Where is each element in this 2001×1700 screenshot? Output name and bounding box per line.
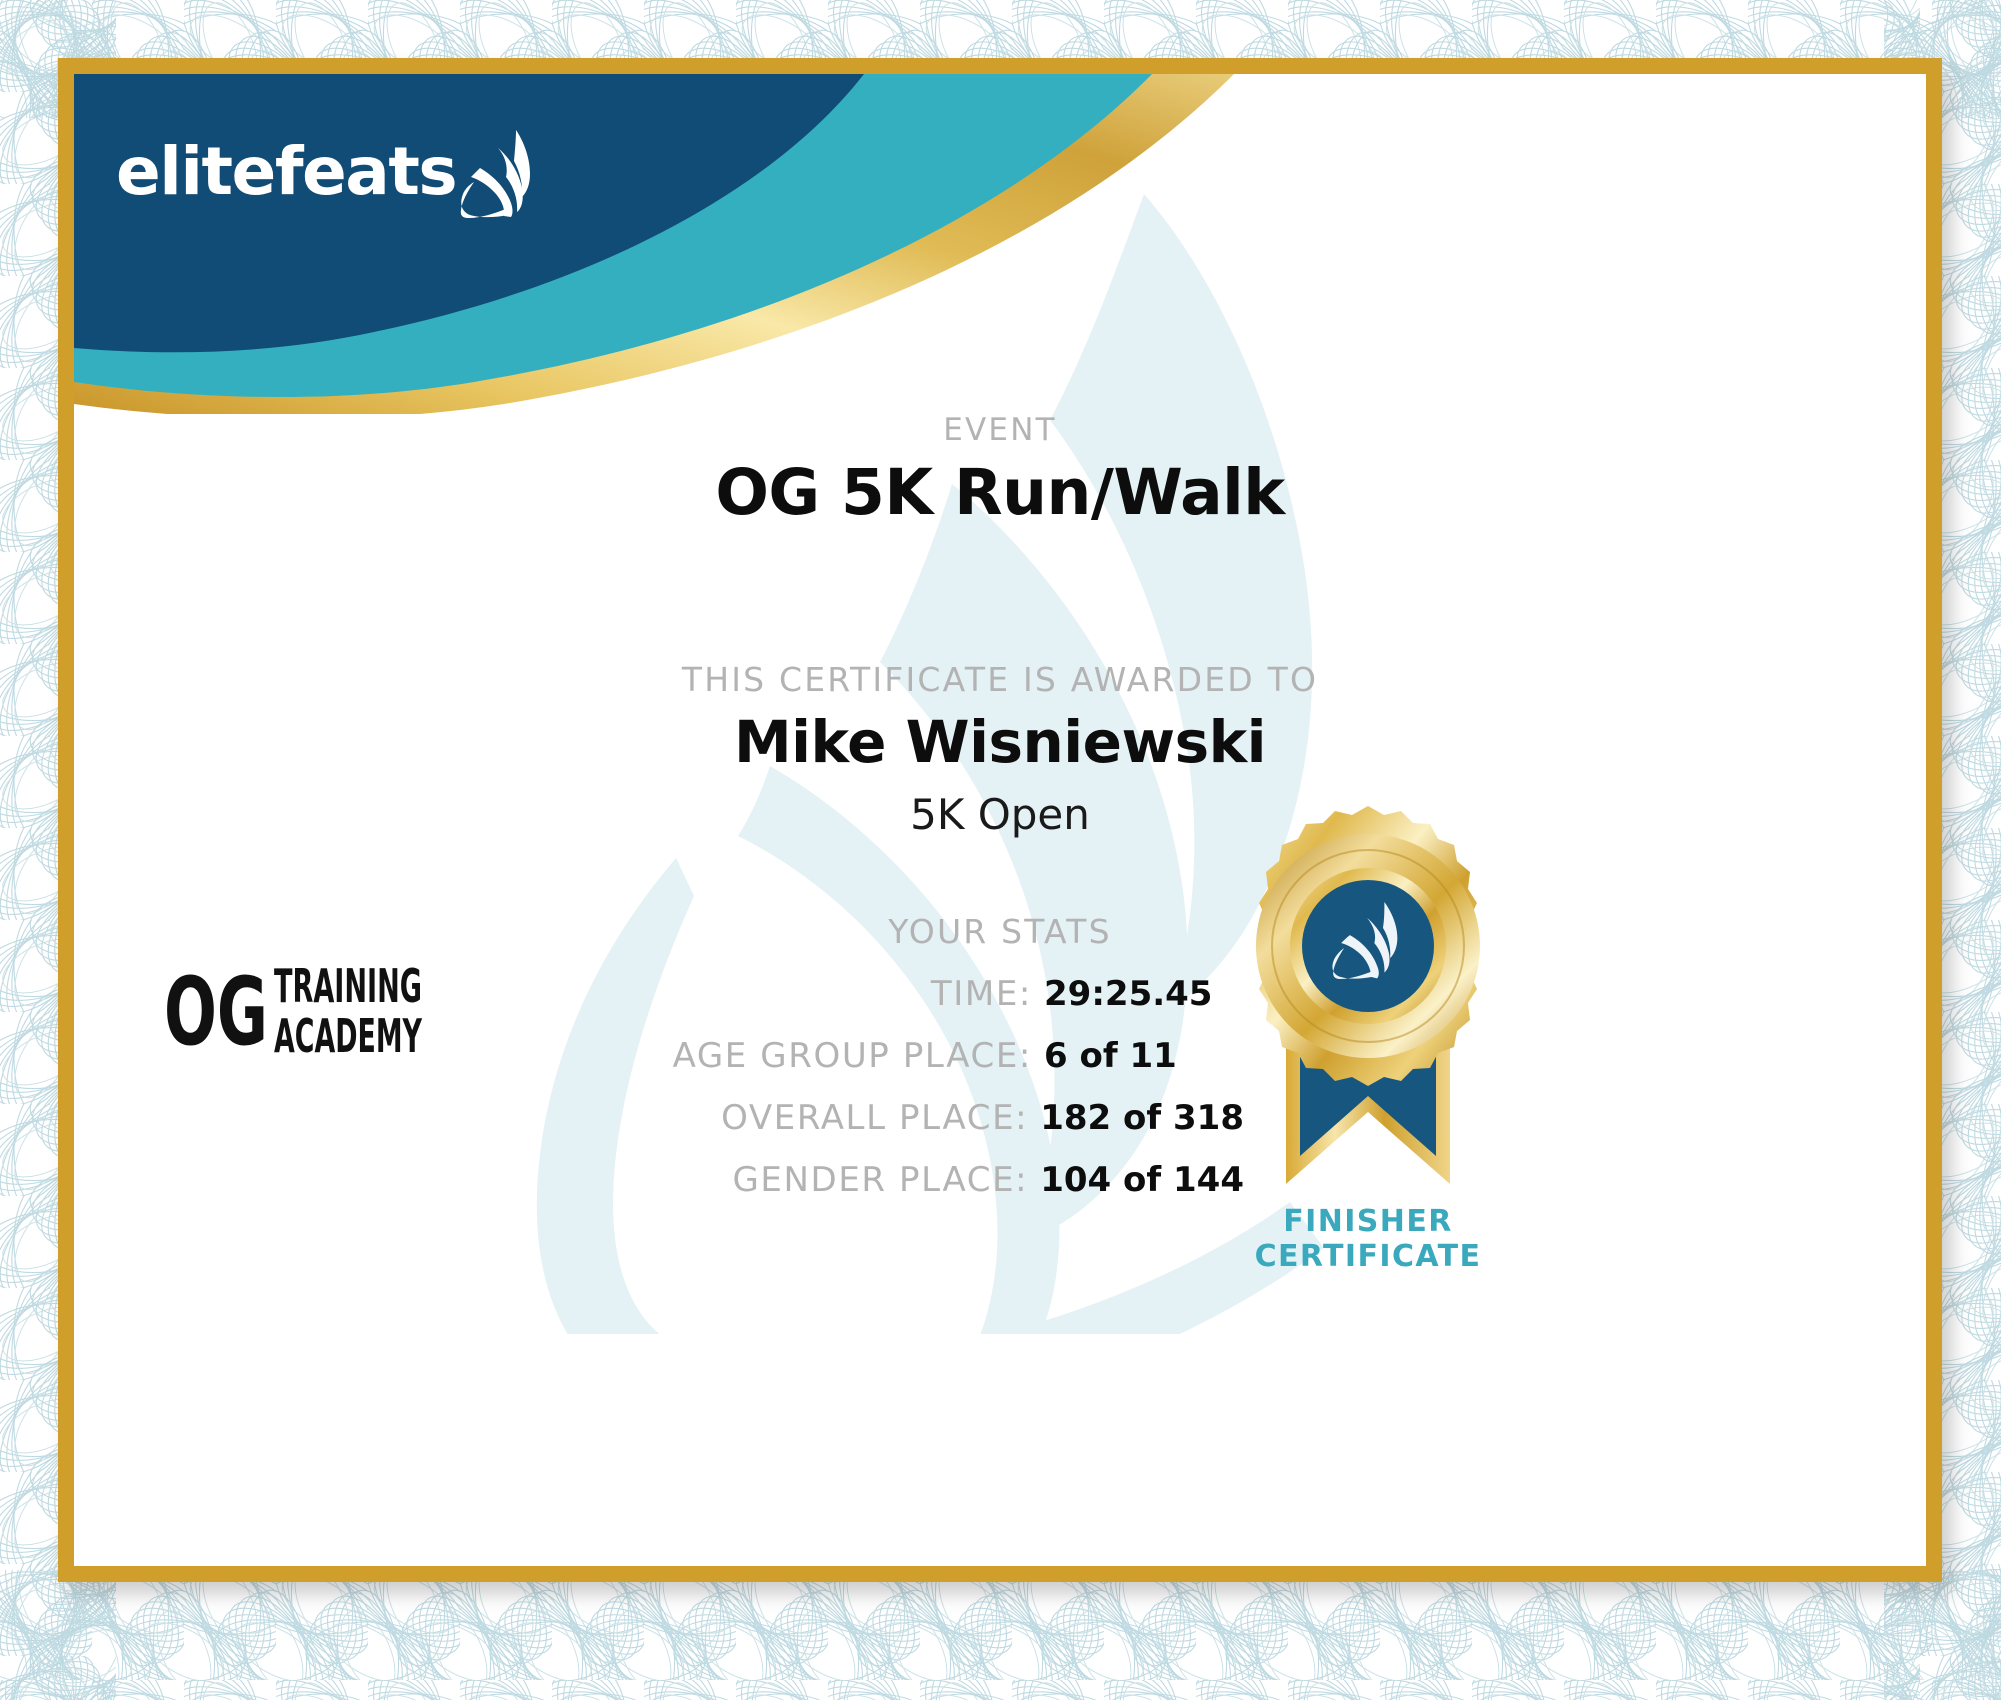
- certificate-page: elitefeats EVENT OG 5K Run/Walk THIS CER…: [0, 0, 2001, 1700]
- event-kicker-label: EVENT: [74, 412, 1926, 448]
- seal-caption-line1: FINISHER: [1208, 1204, 1528, 1239]
- certificate-body: elitefeats EVENT OG 5K Run/Walk THIS CER…: [74, 74, 1926, 1566]
- stat-label: OVERALL PLACE:: [721, 1098, 1028, 1138]
- gold-frame-border: elitefeats EVENT OG 5K Run/Walk THIS CER…: [58, 58, 1942, 1582]
- finisher-certificate-caption: FINISHER CERTIFICATE: [1208, 1204, 1528, 1275]
- recipient-name: Mike Wisniewski: [74, 708, 1926, 776]
- winged-foot-icon: [460, 126, 536, 218]
- recipient-division: 5K Open: [74, 790, 1926, 839]
- header-swoosh-graphic: [74, 74, 1926, 414]
- stat-row-overall-place: OVERALL PLACE: 182 of 318: [74, 1098, 1244, 1138]
- og-training-academy-logo: OG TRAINING ACADEMY: [164, 954, 424, 1064]
- stat-row-gender-place: GENDER PLACE: 104 of 144: [74, 1160, 1244, 1200]
- awarded-to-kicker-label: THIS CERTIFICATE IS AWARDED TO: [74, 660, 1926, 699]
- brand-wordmark: elitefeats: [116, 139, 456, 205]
- event-title: OG 5K Run/Walk: [74, 456, 1926, 529]
- stat-label: GENDER PLACE:: [732, 1160, 1028, 1200]
- og-academy-line1-text: TRAINING: [274, 959, 422, 1013]
- brand-logo: elitefeats: [116, 126, 536, 218]
- finisher-medal-seal: 2025: [1208, 794, 1528, 1214]
- stats-kicker-label: YOUR STATS: [74, 912, 1926, 951]
- og-academy-og-text: OG: [164, 958, 268, 1064]
- stat-label: TIME:: [931, 974, 1032, 1014]
- stat-label: AGE GROUP PLACE:: [673, 1036, 1032, 1076]
- seal-caption-line2: CERTIFICATE: [1208, 1239, 1528, 1274]
- og-academy-line2-text: ACADEMY: [274, 1009, 422, 1063]
